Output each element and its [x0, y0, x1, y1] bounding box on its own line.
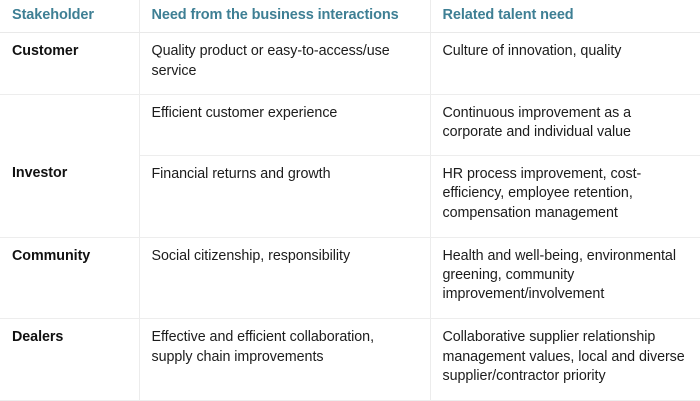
cell-stakeholder: Community — [0, 237, 139, 319]
table-row: Dealers Effective and efficient collabor… — [0, 319, 700, 401]
cell-need: Financial returns and growth — [139, 155, 430, 237]
cell-stakeholder: Dealers — [0, 319, 139, 401]
column-header-stakeholder: Stakeholder — [0, 0, 139, 33]
header-row: Stakeholder Need from the business inter… — [0, 0, 700, 33]
cell-talent: HR process improvement, cost-efficiency,… — [430, 155, 700, 237]
cell-talent: Continuous improvement as a corporate an… — [430, 94, 700, 155]
column-header-talent: Related talent need — [430, 0, 700, 33]
cell-stakeholder — [0, 94, 139, 155]
cell-talent: Health and well-being, environmental gre… — [430, 237, 700, 319]
table-row: Community Social citizenship, responsibi… — [0, 237, 700, 319]
cell-talent: Culture of innovation, quality — [430, 33, 700, 94]
cell-talent: Collaborative supplier relationship mana… — [430, 319, 700, 401]
table-row: Investor Financial returns and growth HR… — [0, 155, 700, 237]
column-header-need: Need from the business interactions — [139, 0, 430, 33]
table-row: Customer Quality product or easy-to-acce… — [0, 33, 700, 94]
cell-need: Social citizenship, responsibility — [139, 237, 430, 319]
cell-stakeholder: Investor — [0, 155, 139, 237]
table-body: Customer Quality product or easy-to-acce… — [0, 33, 700, 401]
cell-need: Efficient customer experience — [139, 94, 430, 155]
table-header: Stakeholder Need from the business inter… — [0, 0, 700, 33]
cell-need: Effective and efficient collaboration, s… — [139, 319, 430, 401]
cell-stakeholder: Customer — [0, 33, 139, 94]
stakeholder-needs-table: Stakeholder Need from the business inter… — [0, 0, 700, 401]
table-row: Efficient customer experience Continuous… — [0, 94, 700, 155]
cell-need: Quality product or easy-to-access/use se… — [139, 33, 430, 94]
